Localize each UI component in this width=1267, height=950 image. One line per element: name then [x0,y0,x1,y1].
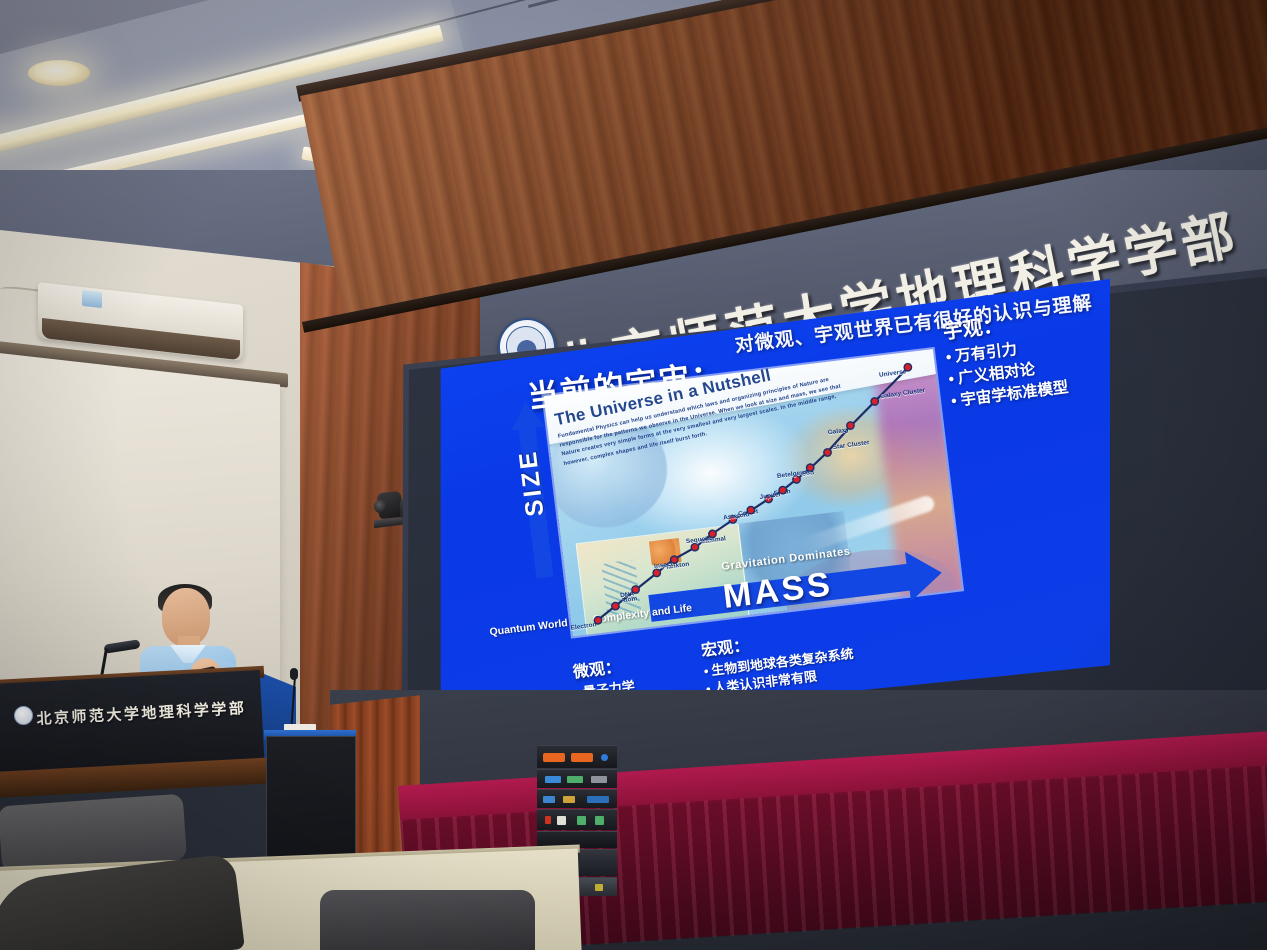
chart-datapoint [824,449,831,456]
foreground-chair [320,890,535,950]
rack-indicator-green [567,776,583,783]
rack-indicator-amber [563,796,575,803]
camera-lens-icon [374,500,387,513]
rack-indicator-grey [591,776,607,783]
podium-emblem-icon [14,706,33,725]
rack-indicator-green [577,816,586,825]
lecture-hall-photo: 北京师范大学地理科学学部 当前的宇宙： 对微观、宇观世界已有很好的认识与理解 T… [0,0,1267,950]
rack-indicator-amber [595,884,603,891]
rack-indicator-blue [545,776,561,783]
rack-microphone-head-icon [290,668,298,680]
rack-indicator-blue [543,796,555,803]
rack-unit[interactable] [537,769,617,788]
rack-indicator-orange [571,753,593,762]
chart-datapoints: ElectronAtomDNAPlanktonInsectMammalSequo… [544,349,962,636]
size-axis-label: SIZE [510,421,553,544]
rack-indicator-red [545,816,551,824]
rack-indicator-green [595,816,604,825]
rack-unit[interactable] [537,809,617,830]
macro-cosmic-block: 宇观： 万有引力 广义相对论 宇宙学标准模型 [941,295,1110,413]
quantum-world-label: Quantum World [489,617,568,638]
rack-indicator-orange [543,753,565,762]
rack-unit[interactable] [537,789,617,808]
ceiling-downlight [28,60,90,86]
rack-indicator-blue [601,754,608,761]
rack-unit[interactable] [537,745,617,768]
rack-indicator-white [557,816,566,825]
rack-indicator-blue [587,796,609,803]
ac-label-sticker [82,290,102,308]
